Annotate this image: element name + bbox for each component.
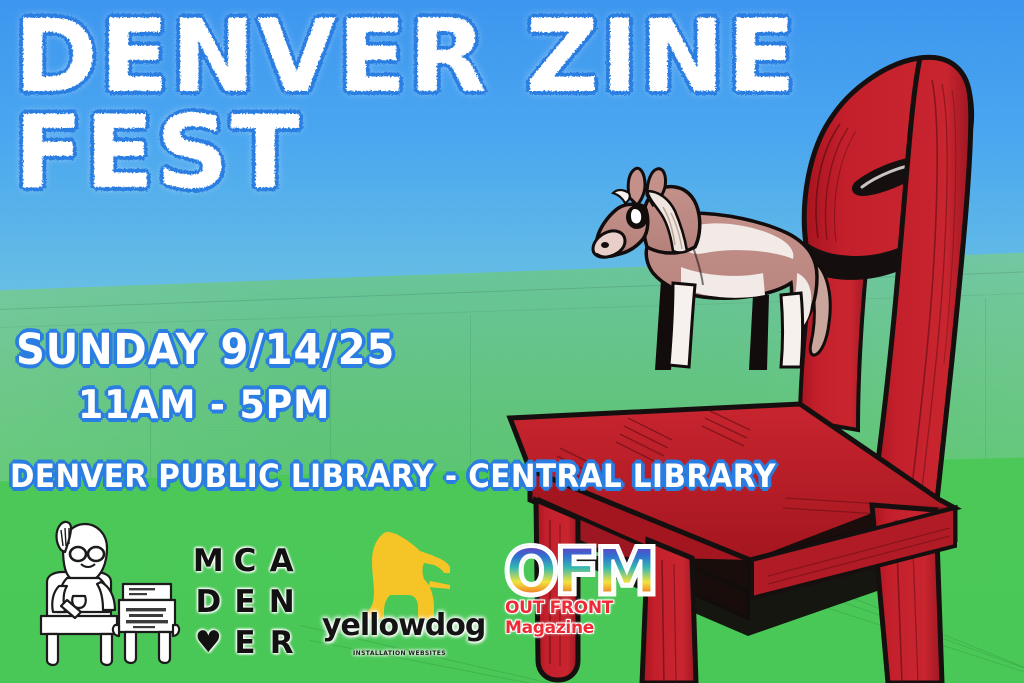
mca-cell-3: D	[190, 582, 227, 623]
event-time: 11AM - 5PM	[78, 383, 330, 428]
ofm-wordmark: OFM	[505, 543, 690, 602]
headline-line-2: FEST	[14, 106, 798, 200]
headline-line-1: DENVER ZINE	[14, 10, 798, 104]
mca-cell-8: R	[263, 622, 300, 663]
dog-leash	[428, 581, 450, 589]
yellowdog-subtitle: INSTALLATION WEBSITES	[322, 650, 477, 657]
event-date: SUNDAY 9/14/25	[16, 325, 395, 375]
poster-headline: DENVER ZINE FEST	[14, 10, 798, 200]
mca-cell-4: E	[227, 582, 264, 623]
sponsor-logo-out-front-magazine[interactable]: OFM OFM OUT FRONT Magazine	[505, 543, 690, 638]
sponsor-logo-mca-denver[interactable]: M C A D E N ♥ E R	[190, 541, 300, 663]
yellowdog-wordmark: yellowdog	[322, 608, 477, 643]
mca-heart-icon: ♥	[190, 622, 227, 663]
mca-cell-0: M	[190, 541, 227, 582]
zine-fest-poster: DENVER ZINE FEST SUNDAY 9/14/25 11AM - 5…	[0, 0, 1024, 683]
sponsor-logo-row: M C A D E N ♥ E R yellowdog INSTALLATION…	[0, 503, 720, 683]
mca-cell-5: N	[263, 582, 300, 623]
mca-cell-2: A	[263, 541, 300, 582]
sponsor-logo-yellowdog[interactable]: yellowdog INSTALLATION WEBSITES	[322, 525, 477, 665]
sponsor-logo-denver-zine-library[interactable]	[25, 520, 185, 665]
mca-cell-7: E	[227, 622, 264, 663]
yellow-dog-icon	[366, 532, 450, 619]
wall-panel-line	[470, 315, 471, 475]
horse-near-hindleg	[781, 293, 803, 367]
event-venue: DENVER PUBLIC LIBRARY - CENTRAL LIBRARY	[10, 457, 776, 495]
dog-silhouette	[366, 532, 450, 619]
horse-near-foreleg	[669, 283, 695, 367]
mca-cell-1: C	[227, 541, 264, 582]
horse-far-hindleg	[749, 295, 769, 370]
horse-nostril	[601, 242, 609, 248]
